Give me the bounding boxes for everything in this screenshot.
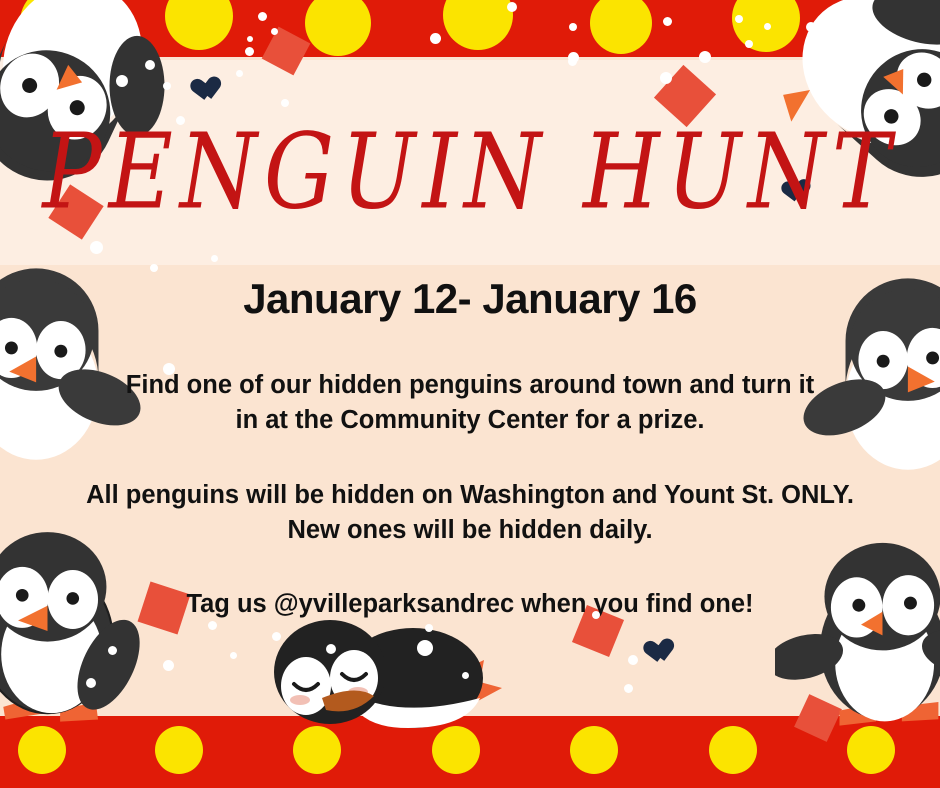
penguin-middle-right bbox=[795, 278, 940, 483]
heart-icon bbox=[195, 76, 224, 103]
penguin-bottom-right bbox=[775, 540, 940, 735]
diamond-shape bbox=[654, 65, 716, 127]
penguin-middle-left bbox=[0, 268, 149, 473]
diamond-shape bbox=[262, 27, 311, 76]
penguin-top-right bbox=[768, 0, 940, 204]
diamond-shape bbox=[572, 605, 624, 657]
heart-icon bbox=[648, 638, 677, 665]
penguin-top-left bbox=[0, 0, 188, 204]
penguin-bottom-left bbox=[0, 530, 155, 730]
penguin-hunt-poster: PENGUIN HUNT January 12- January 16 Find… bbox=[0, 0, 940, 788]
penguin-pair-bottom-center bbox=[258, 612, 508, 732]
